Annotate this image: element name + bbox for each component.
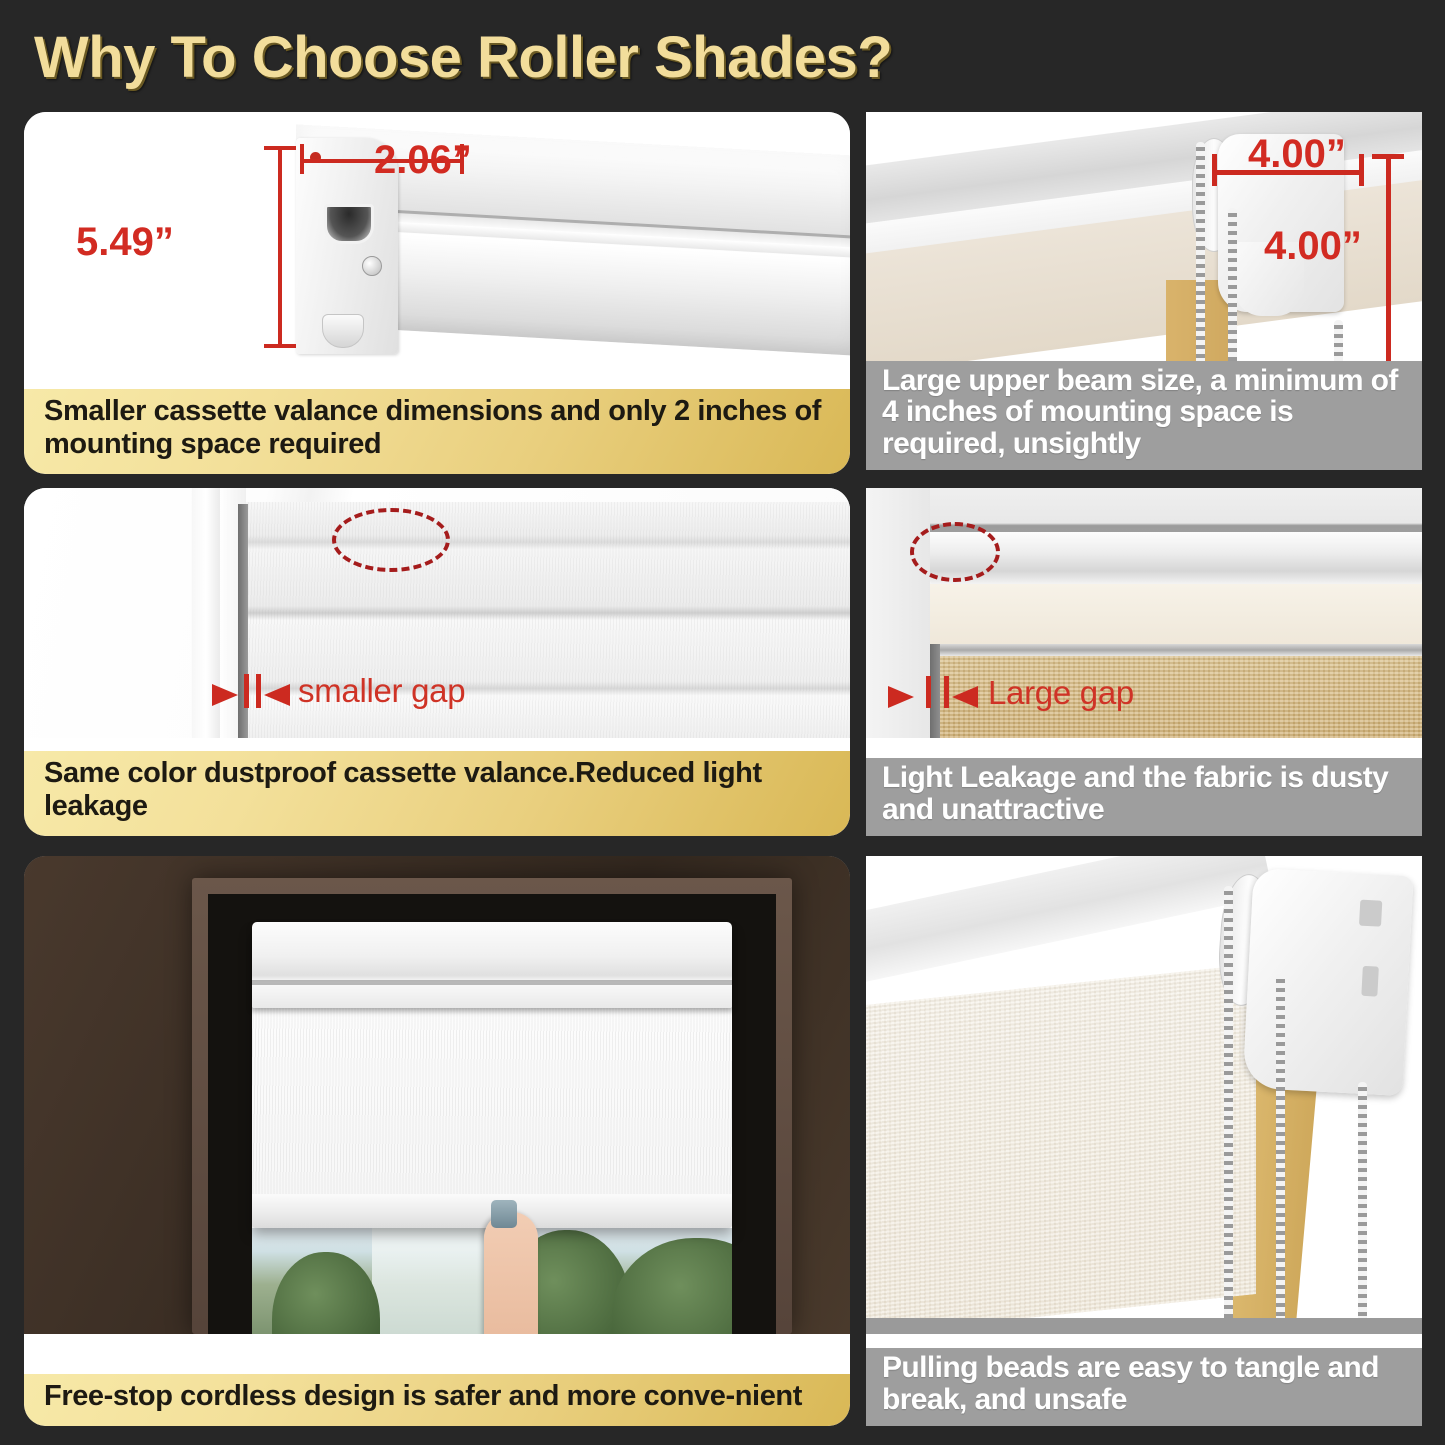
mounting-bracket [1242, 868, 1413, 1096]
large-gap-label: Large gap [988, 674, 1134, 712]
panel-2-image: 4.00” 4.00” [866, 112, 1422, 367]
panel-3-smaller-gap: smaller gap Same color dustproof cassett… [24, 488, 850, 836]
cassette-valance [252, 922, 732, 1008]
panel-2-caption: Large upper beam size, a minimum of 4 in… [866, 361, 1422, 470]
gap-highlight-ellipse [910, 522, 1000, 582]
surface-base-strip [866, 1318, 1422, 1334]
hand-illustration [484, 1212, 538, 1334]
gap-tick-right [256, 674, 261, 708]
beam-height-label: 4.00” [1264, 224, 1362, 269]
beige-shade-fabric [866, 964, 1256, 1334]
tree-left [272, 1252, 380, 1334]
width-dim-tick-left [300, 144, 304, 174]
height-dimension-label: 5.49” [76, 220, 174, 265]
gap-arrow-left [212, 684, 238, 706]
bracket-lug-mid [1361, 966, 1379, 997]
gap-highlight-ellipse [332, 508, 450, 572]
panel-5-caption: Free-stop cordless design is safer and m… [24, 1374, 850, 1426]
smaller-gap-label: smaller gap [298, 672, 465, 710]
panel-6-pulling-beads: Pulling beads are easy to tangle and bre… [866, 856, 1422, 1426]
gap-shadow-strip [930, 644, 940, 738]
beam-height-dimension-line [1386, 154, 1391, 362]
panel-1-caption: Smaller cassette valance dimensions and … [24, 389, 850, 474]
panel-5-cordless-window: Free-stop cordless design is safer and m… [24, 856, 850, 1426]
gap-tick-right [944, 676, 949, 708]
window-frame [192, 878, 792, 1334]
valance-bracket-tab [322, 314, 364, 348]
width-dimension-label: 2.06” [374, 138, 472, 183]
panel-6-caption: Pulling beads are easy to tangle and bre… [866, 1348, 1422, 1426]
bead-chain-right [1228, 208, 1237, 367]
window-recess [208, 894, 776, 1334]
beam-width-tick-right [1359, 154, 1364, 186]
panel-4-image: Large gap [866, 488, 1422, 738]
beige-fabric-texture [866, 964, 1256, 1334]
height-dimension-line [278, 146, 282, 348]
bead-chain-middle [1276, 974, 1285, 1334]
shade-cream-band [930, 584, 1422, 644]
bead-chain-front [1224, 886, 1233, 1334]
panel-4-caption: Light Leakage and the fabric is dusty an… [866, 758, 1422, 836]
panel-6-image [866, 856, 1422, 1334]
gap-tick-left [926, 676, 931, 708]
shade-top-rail [930, 532, 1422, 584]
height-dim-tick-top [264, 146, 296, 150]
shade-metal-tube [930, 644, 1422, 656]
bracket-lug-top [1359, 900, 1382, 927]
page-title: Why To Choose Roller Shades? [34, 24, 1414, 92]
beam-width-label: 4.00” [1248, 132, 1346, 177]
panel-1-cassette-dimensions: 2.06” 5.49” Smaller cassette valance dim… [24, 112, 850, 474]
height-dim-tick-bottom [264, 344, 296, 348]
beam-width-tick-left [1212, 154, 1217, 186]
valance-screw [362, 256, 382, 276]
beam-height-tick-top [1372, 154, 1404, 159]
tree-right [612, 1238, 732, 1334]
valance-slot [324, 204, 374, 244]
gap-arrow-right [952, 686, 978, 708]
panel-5-image [24, 856, 850, 1334]
gap-arrow-left [888, 686, 914, 708]
gap-tick-left [244, 674, 249, 708]
bead-chain-left [1196, 142, 1205, 367]
panel-4-large-gap: Large gap Light Leakage and the fabric i… [866, 488, 1422, 836]
panel-1-image: 2.06” 5.49” [24, 112, 850, 380]
shade-pull-handle [491, 1200, 517, 1228]
panel-2-large-beam: 4.00” 4.00” Large upper beam size, a min… [866, 112, 1422, 470]
panel-3-caption: Same color dustproof cassette valance.Re… [24, 751, 850, 836]
bead-chain-rear [1358, 1082, 1367, 1334]
gap-arrow-right [264, 684, 290, 706]
panel-3-image: smaller gap [24, 488, 850, 738]
